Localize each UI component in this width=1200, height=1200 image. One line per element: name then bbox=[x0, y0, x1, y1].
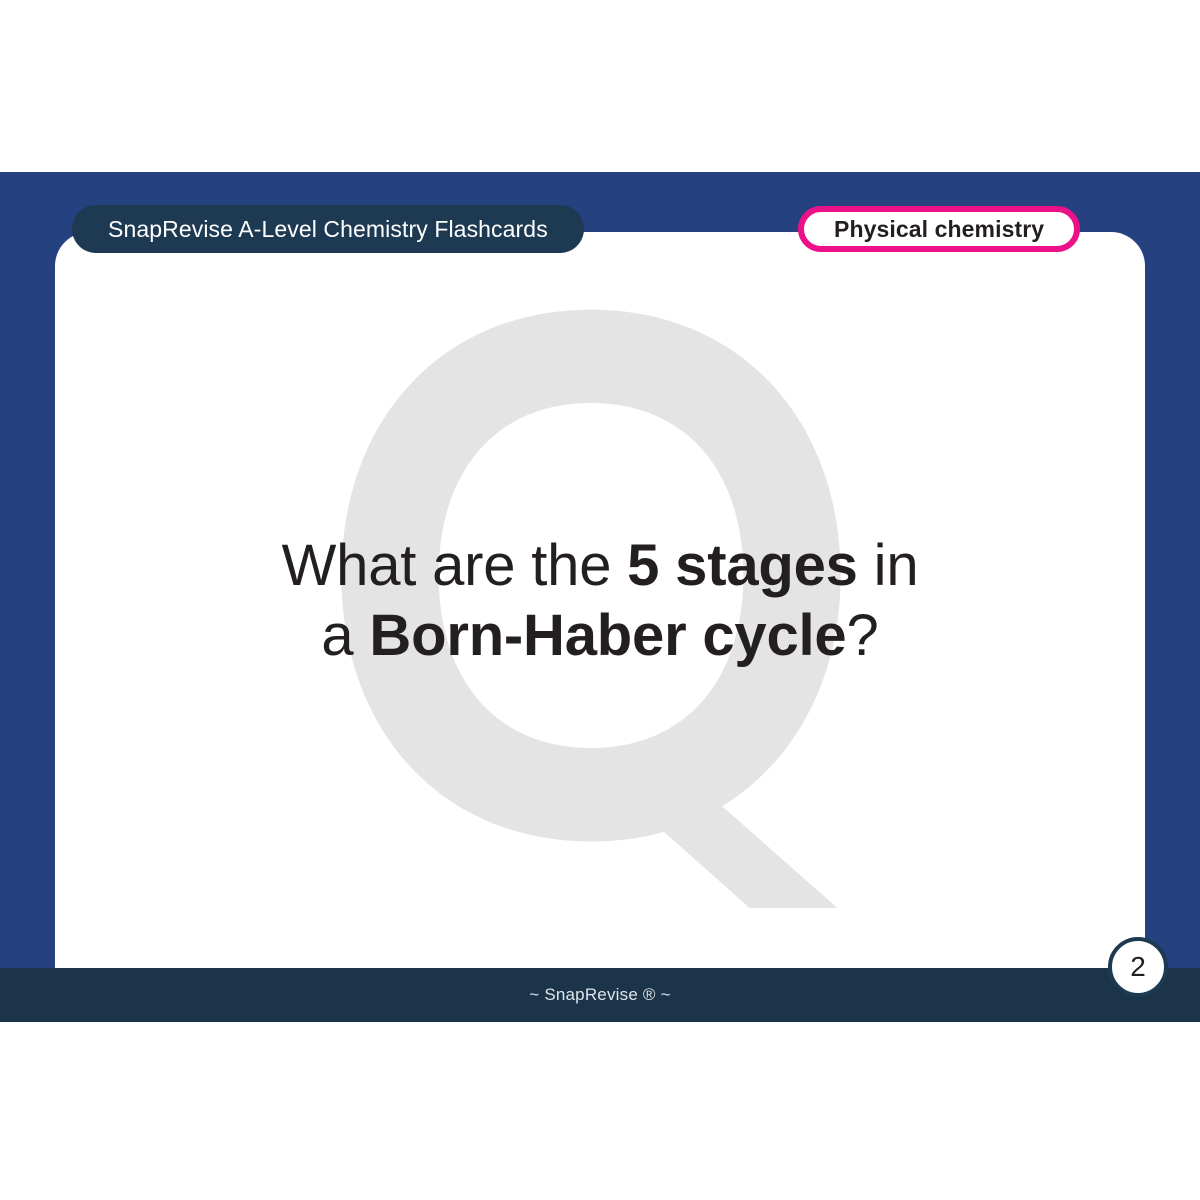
question-line-2: a Born-Haber cycle? bbox=[321, 601, 878, 671]
footer-bar: ~ SnapRevise ® ~ bbox=[0, 968, 1200, 1022]
question-text-block: What are the 5 stages in a Born-Haber cy… bbox=[55, 232, 1145, 969]
deck-title-pill[interactable]: SnapRevise A-Level Chemistry Flashcards bbox=[72, 205, 584, 253]
question-line-1: What are the 5 stages in bbox=[282, 531, 919, 601]
footer-brand-text: ~ SnapRevise ® ~ bbox=[529, 985, 670, 1005]
page-number-badge: 2 bbox=[1108, 937, 1168, 997]
topic-badge-label: Physical chemistry bbox=[834, 216, 1044, 243]
page-number-value: 2 bbox=[1130, 951, 1146, 983]
flashcard-body: What are the 5 stages in a Born-Haber cy… bbox=[55, 232, 1145, 969]
deck-title-label: SnapRevise A-Level Chemistry Flashcards bbox=[108, 216, 548, 243]
flashcard-slide: What are the 5 stages in a Born-Haber cy… bbox=[0, 0, 1200, 1200]
topic-badge[interactable]: Physical chemistry bbox=[798, 206, 1080, 252]
